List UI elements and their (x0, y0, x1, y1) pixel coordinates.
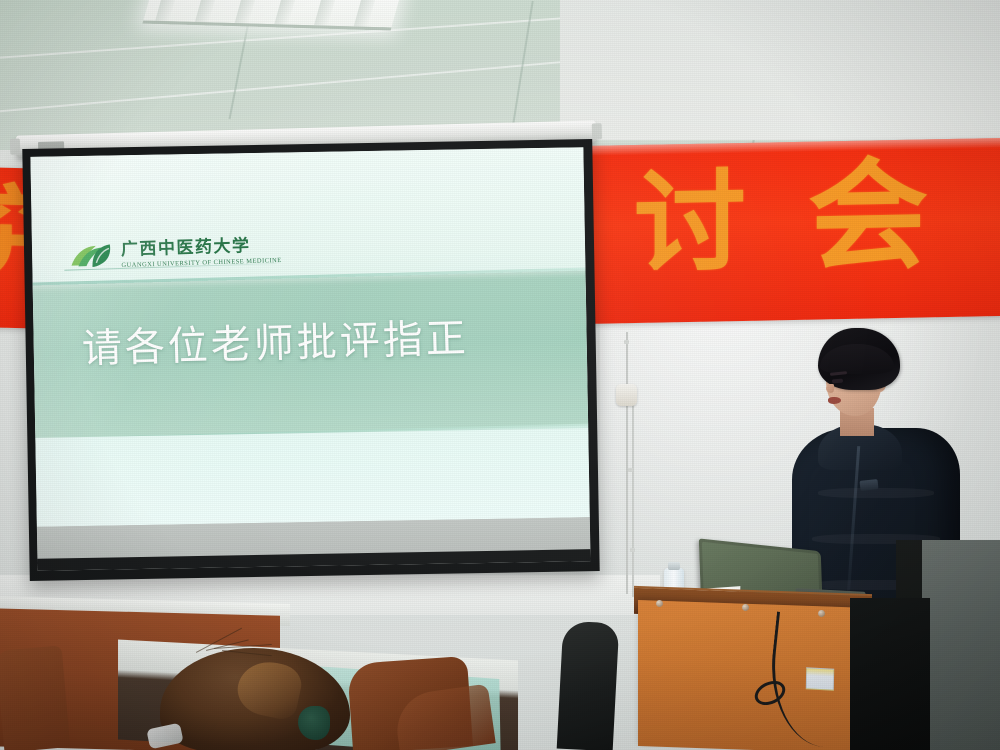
wall-cable-junction-box-icon (616, 384, 637, 406)
presenter-jacket-badge (860, 479, 879, 491)
slide-bottom-area (35, 428, 589, 526)
slide-center-band (30, 270, 589, 441)
wall-cable (626, 332, 628, 594)
leaf-logo-icon (70, 243, 115, 270)
projection-screen: 广西中医药大学 GUANGXI UNIVERSITY OF CHINESE ME… (22, 139, 599, 581)
water-bottle-cap (668, 562, 680, 570)
podium-screw (656, 600, 663, 607)
banner-char-2: 会 (808, 155, 928, 277)
green-hair-tie-icon (298, 706, 330, 740)
photo-scene: 究 讨 会 (0, 0, 1000, 750)
cable-clip (624, 340, 629, 344)
cable-clip (628, 468, 633, 472)
logo-chinese-name: 广西中医药大学 (121, 237, 282, 260)
wooden-chair-left (0, 645, 70, 750)
ceiling-light-icon (142, 0, 407, 30)
podium-screw (742, 604, 749, 611)
foreground-dark-furniture (850, 598, 930, 750)
presenter-nose (826, 384, 834, 393)
banner-right: 讨 会 (578, 138, 1000, 324)
dark-chair-back (557, 621, 620, 750)
slide-canvas: 广西中医药大学 GUANGXI UNIVERSITY OF CHINESE ME… (30, 147, 589, 527)
upper-wall (560, 0, 1000, 140)
cable-clip (630, 548, 635, 552)
wall-cable-secondary (632, 392, 634, 597)
presenter-eye (832, 379, 843, 384)
banner-char-1: 讨 (634, 167, 746, 281)
